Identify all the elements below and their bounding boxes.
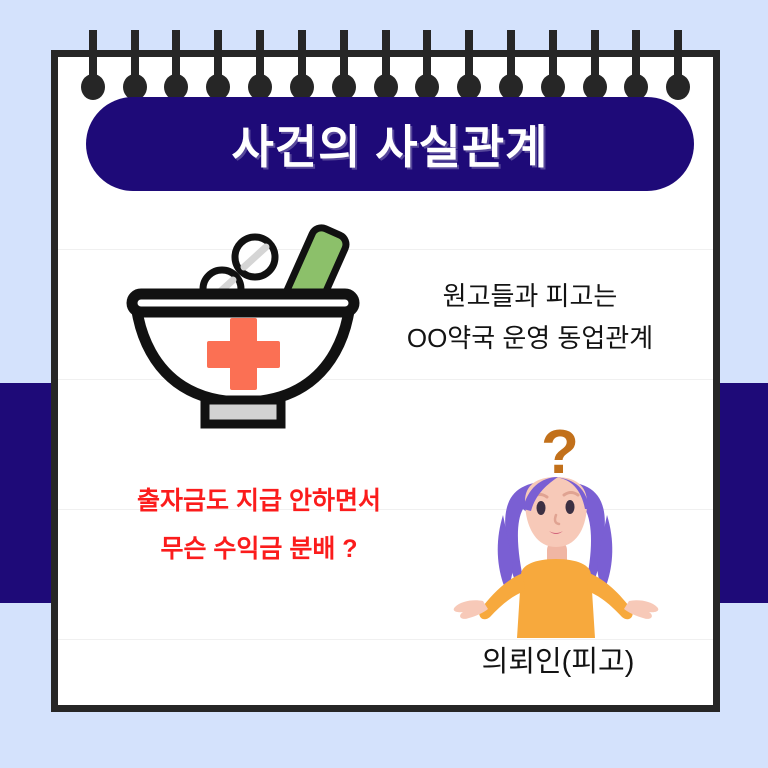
client-caption: 의뢰인(피고) xyxy=(428,638,688,680)
mortar-base xyxy=(205,400,281,424)
binding-ring xyxy=(298,30,306,82)
binding-ring xyxy=(172,30,180,82)
binding-ring xyxy=(591,30,599,82)
infographic-canvas: 사건의 사실관계 xyxy=(0,0,768,768)
binding-ring xyxy=(89,30,97,82)
client-quote-line-2: 무슨 수익금 분배 ? xyxy=(74,526,444,574)
binding-ring xyxy=(674,30,682,82)
binding-ring xyxy=(382,30,390,82)
binding-ring xyxy=(131,30,139,82)
binding-ring xyxy=(632,30,640,82)
client-quote-line-1: 출자금도 지급 안하면서 xyxy=(74,478,444,526)
mortar-and-pestle-icon xyxy=(118,222,388,437)
binding-ring xyxy=(507,30,515,82)
binding-ring xyxy=(465,30,473,82)
shrugging-woman-illustration: ? xyxy=(443,423,673,638)
binding-ring xyxy=(256,30,264,82)
pill-upper xyxy=(235,237,275,277)
notepad-binding-rings xyxy=(51,30,720,100)
fact-statement: 원고들과 피고는 OO약국 운영 동업관계 xyxy=(360,275,700,359)
title-banner: 사건의 사실관계 xyxy=(86,97,694,191)
binding-ring xyxy=(549,30,557,82)
binding-ring xyxy=(214,30,222,82)
binding-ring xyxy=(340,30,348,82)
page-title: 사건의 사실관계 xyxy=(231,111,548,177)
fact-statement-line-1: 원고들과 피고는 xyxy=(360,275,700,317)
client-quote: 출자금도 지급 안하면서 무슨 수익금 분배 ? xyxy=(74,478,444,573)
binding-ring xyxy=(423,30,431,82)
fact-statement-line-2: OO약국 운영 동업관계 xyxy=(360,317,700,359)
